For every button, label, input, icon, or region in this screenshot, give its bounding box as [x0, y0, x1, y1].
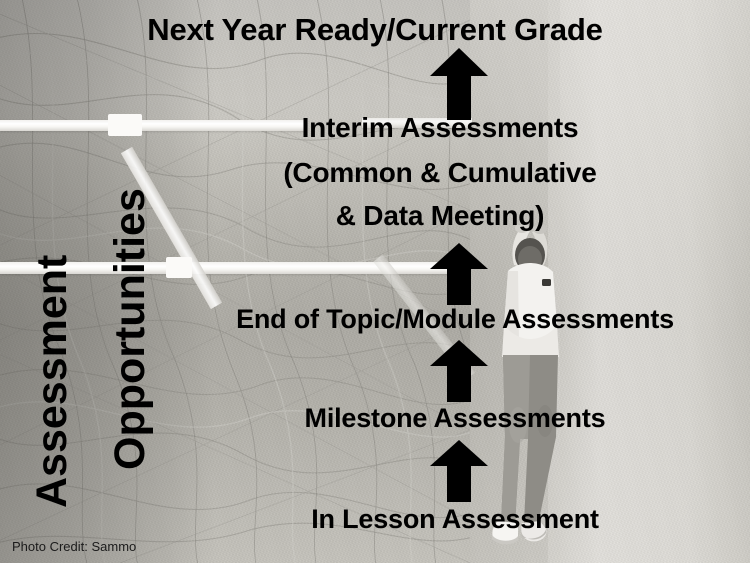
level-label-interim-line2: (Common & Cumulative	[0, 157, 750, 189]
slide-canvas: Next Year Ready/Current Grade Interim As…	[0, 0, 750, 563]
progression-arrow-3	[430, 243, 488, 310]
vertical-label-opportunities: Opportunities	[106, 188, 155, 470]
level-label-next-year-ready: Next Year Ready/Current Grade	[0, 12, 750, 48]
photo-credit: Photo Credit: Sammo	[12, 539, 136, 554]
level-label-interim-assessments: Interim Assessments	[0, 112, 750, 144]
level-label-in-lesson: In Lesson Assessment	[0, 504, 750, 535]
vertical-label-assessment: Assessment	[28, 255, 77, 508]
monkey-bar-joint-lower	[166, 257, 192, 278]
progression-arrow-2	[430, 340, 488, 407]
progression-arrow-1	[430, 440, 488, 507]
